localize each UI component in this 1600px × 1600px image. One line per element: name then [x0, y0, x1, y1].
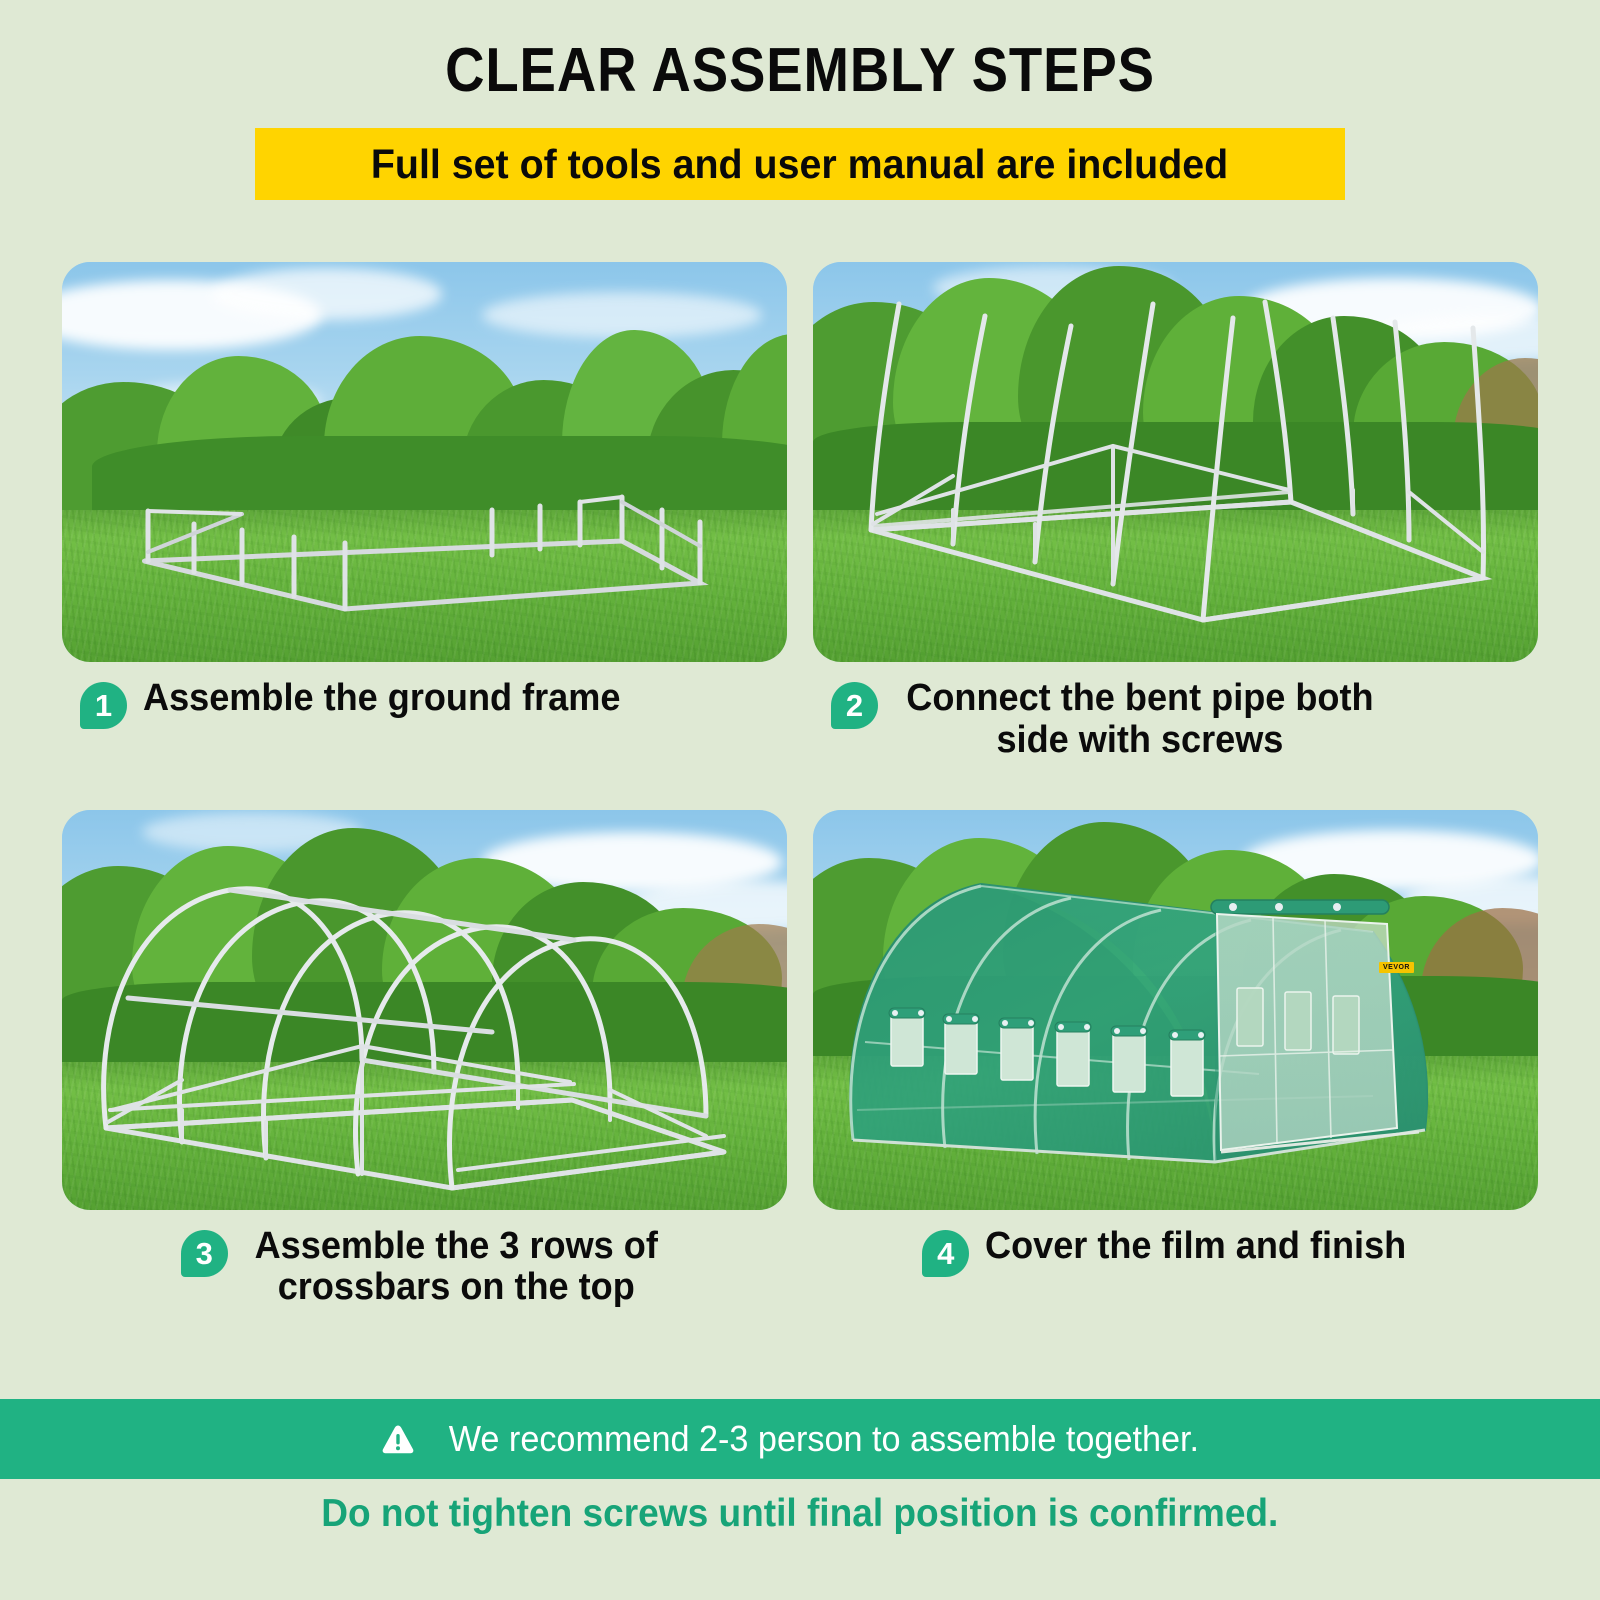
step-4-photo: VEVOR: [813, 810, 1538, 1210]
recommendation-banner: We recommend 2-3 person to assemble toge…: [0, 1399, 1600, 1479]
step-1-caption: 1 Assemble the ground frame: [62, 662, 787, 729]
step-3-caption: 3 Assemble the 3 rows of crossbars on th…: [62, 1210, 787, 1310]
step-2-caption: 2 Connect the bent pipe both side with s…: [813, 662, 1538, 762]
steps-row-2: 3 Assemble the 3 rows of crossbars on th…: [0, 810, 1600, 1310]
step-card-1: 1 Assemble the ground frame: [62, 262, 787, 762]
step-4-caption: 4 Cover the film and finish: [813, 1210, 1538, 1277]
step-card-2: 2 Connect the bent pipe both side with s…: [813, 262, 1538, 762]
page-title: CLEAR ASSEMBLY STEPS: [96, 40, 1504, 102]
step-badge-1: 1: [80, 682, 127, 729]
footer-note-text: Do not tighten screws until final positi…: [321, 1492, 1278, 1536]
ground-frame-illustration: [62, 262, 787, 662]
step-2-photo: [813, 262, 1538, 662]
step-label-3-line1: Assemble the 3 rows of: [254, 1226, 657, 1268]
step-label-3: Assemble the 3 rows of crossbars on the …: [254, 1226, 657, 1310]
step-3-photo: [62, 810, 787, 1210]
step-label-4: Cover the film and finish: [985, 1226, 1406, 1268]
step-badge-4: 4: [922, 1230, 969, 1277]
recommendation-text: We recommend 2-3 person to assemble toge…: [449, 1418, 1199, 1460]
subtitle-banner: Full set of tools and user manual are in…: [255, 128, 1345, 200]
footer-note: Do not tighten screws until final positi…: [0, 1492, 1600, 1536]
subtitle-text: Full set of tools and user manual are in…: [371, 141, 1228, 188]
assembly-steps-grid: 1 Assemble the ground frame: [0, 262, 1600, 1309]
step-1-photo: [62, 262, 787, 662]
warning-triangle-icon: [381, 1423, 415, 1455]
step-card-4: VEVOR 4 Cover the film and finish: [813, 810, 1538, 1310]
header: CLEAR ASSEMBLY STEPS Full set of tools a…: [0, 0, 1600, 200]
step-label-3-line2: crossbars on the top: [254, 1267, 657, 1309]
step-badge-3: 3: [181, 1230, 228, 1277]
step-label-1: Assemble the ground frame: [143, 678, 620, 720]
bent-pipe-frame-illustration: [813, 262, 1538, 662]
covered-greenhouse-illustration: [813, 810, 1538, 1210]
step-label-2-line2: side with screws: [906, 720, 1373, 762]
step-badge-2: 2: [831, 682, 878, 729]
brand-badge: VEVOR: [1379, 962, 1414, 973]
hoop-frame-crossbars-illustration: [62, 810, 787, 1210]
step-label-2-line1: Connect the bent pipe both: [906, 678, 1373, 720]
steps-row-1: 1 Assemble the ground frame: [0, 262, 1600, 762]
step-label-2: Connect the bent pipe both side with scr…: [906, 678, 1373, 762]
step-card-3: 3 Assemble the 3 rows of crossbars on th…: [62, 810, 787, 1310]
